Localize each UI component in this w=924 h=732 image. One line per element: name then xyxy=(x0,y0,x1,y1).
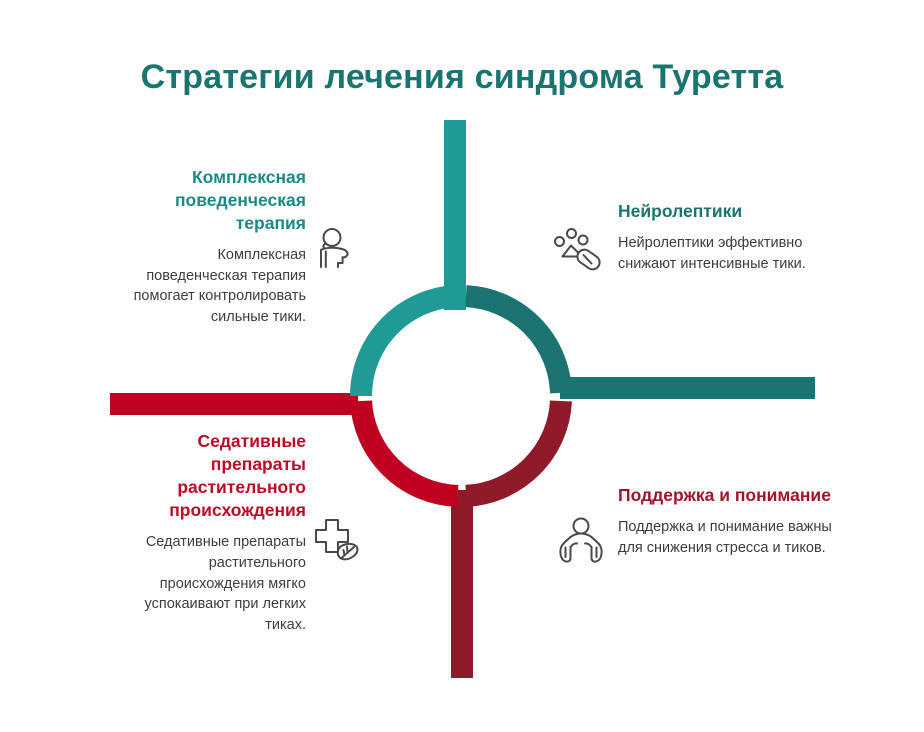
quadrant-heading-support: Поддержка и понимание xyxy=(618,484,833,507)
ring-arc-top-left xyxy=(361,296,458,396)
quadrant-block-support: Поддержка и понимание Поддержка и понима… xyxy=(618,484,833,558)
quadrant-heading-cbt: Комплексная поведенческая терапия xyxy=(126,166,306,235)
ring-arc-top-right xyxy=(466,296,561,393)
person-icon xyxy=(312,226,358,274)
ring-arc-bottom-left xyxy=(361,401,458,496)
quadrant-body-support: Поддержка и понимание важны для снижения… xyxy=(618,517,833,558)
infographic-canvas: Стратегии лечения синдрома Туретта Компл… xyxy=(0,0,924,732)
ring-arc-bottom-right xyxy=(466,401,561,496)
quadrant-body-sedatives: Седативные препараты растительного проис… xyxy=(116,532,306,635)
connector-line-bottom xyxy=(451,490,473,678)
quadrant-body-cbt: Комплексная поведенческая терапия помога… xyxy=(126,245,306,327)
quadrant-block-sedatives: Седативные препараты растительного проис… xyxy=(116,430,306,635)
pills-icon xyxy=(552,226,602,276)
quadrant-block-cbt: Комплексная поведенческая терапия Компле… xyxy=(126,166,306,328)
connector-line-right xyxy=(560,377,815,399)
quadrant-block-neuroleptics: Нейролептики Нейролептики эффективно сни… xyxy=(618,200,818,274)
connector-line-left xyxy=(110,393,358,415)
connector-line-top xyxy=(444,120,466,310)
quadrant-heading-neuroleptics: Нейролептики xyxy=(618,200,818,223)
quadrant-heading-sedatives: Седативные препараты растительного проис… xyxy=(116,430,306,522)
medical-cross-leaf-icon xyxy=(310,516,366,564)
support-hands-icon xyxy=(556,516,606,566)
quadrant-body-neuroleptics: Нейролептики эффективно снижают интенсив… xyxy=(618,233,818,274)
